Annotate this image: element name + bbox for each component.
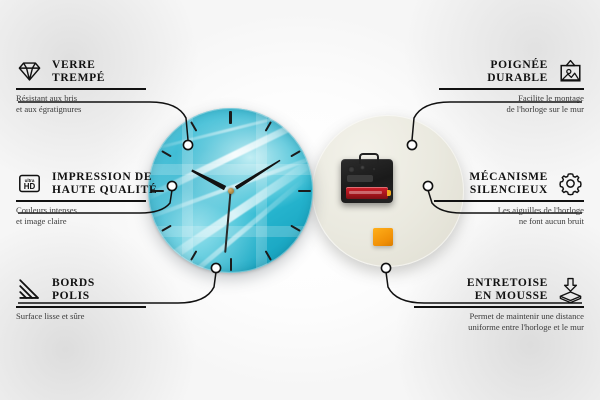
feature-description: Surface lisse et sûre (16, 311, 146, 321)
foam-spacer (373, 228, 393, 246)
polished-edge-icon (16, 276, 43, 303)
feature-title-line1: IMPRESSION DE (52, 171, 152, 183)
feature-title: IMPRESSION DE HAUTE QUALITÉ (52, 171, 157, 196)
feature-title: BORDS POLIS (52, 277, 95, 302)
svg-text:HD: HD (24, 182, 36, 191)
mechanism-detail (348, 166, 355, 173)
feature-title-line2: EN MOUSSE (475, 290, 548, 302)
feature-rule (414, 306, 584, 308)
feature-title: ENTRETOISE EN MOUSSE (467, 277, 548, 302)
feature-description: Résistant aux bris et aux égratignures (16, 93, 146, 114)
feature-title: VERRE TREMPÉ (52, 59, 105, 84)
feature-title-line1: ENTRETOISE (467, 277, 548, 289)
foam-spacer-icon (557, 276, 584, 303)
feature-desc-line1: Permet de maintenir une distance (469, 311, 584, 321)
feature-desc-line1: Surface lisse et sûre (16, 311, 85, 321)
mechanism-hanger-tab (359, 153, 379, 164)
feature-title-line2: POLIS (52, 290, 90, 302)
feature-rule (16, 200, 146, 202)
feature-desc-line2: de l'horloge sur le mur (507, 104, 584, 114)
feature-rule (434, 200, 584, 202)
feature-desc-line2: et aux égratignures (16, 104, 81, 114)
feature-title-line1: MÉCANISME (469, 171, 548, 183)
picture-hanger-icon (557, 58, 584, 85)
feature-title-line2: HAUTE QUALITÉ (52, 184, 157, 196)
feature-rule (439, 88, 584, 90)
feature-rule (16, 88, 146, 90)
feature-desc-line2: ne font aucun bruit (519, 216, 584, 226)
feature-title-line2: DURABLE (487, 72, 548, 84)
hour-marker (230, 111, 232, 191)
feature-desc-line1: Les aiguilles de l'horloge (498, 205, 584, 215)
feature-verre-trempe[interactable]: VERRE TREMPÉ Résistant aux bris et aux é… (16, 58, 146, 114)
quartz-mechanism (341, 159, 393, 203)
feature-impression-haute-qualite[interactable]: ultra HD IMPRESSION DE HAUTE QUALITÉ Cou… (16, 170, 146, 226)
mechanism-detail (360, 165, 365, 170)
feature-desc-line1: Couleurs intenses (16, 205, 77, 215)
hands-center-cap (228, 188, 234, 194)
feature-description: Facilite le montage de l'horloge sur le … (439, 93, 584, 114)
feature-title-line1: BORDS (52, 277, 95, 289)
feature-title-line1: POIGNÉE (490, 59, 548, 71)
battery (346, 187, 388, 199)
feature-description: Couleurs intenses et image claire (16, 205, 146, 226)
mechanism-detail (347, 175, 373, 182)
feature-title-line2: TREMPÉ (52, 72, 105, 84)
feature-title: MÉCANISME SILENCIEUX (469, 171, 548, 196)
diamond-icon (16, 58, 43, 85)
feature-poignee-durable[interactable]: POIGNÉE DURABLE Facilite le montage de l… (439, 58, 584, 114)
feature-rule (16, 306, 146, 308)
feature-desc-line2: uniforme entre l'horloge et le mur (468, 322, 584, 332)
feature-mecanisme-silencieux[interactable]: MÉCANISME SILENCIEUX Les aiguilles de l'… (434, 170, 584, 226)
battery-stripe (349, 191, 382, 194)
feature-desc-line1: Facilite le montage (518, 93, 584, 103)
feature-title-line2: SILENCIEUX (470, 184, 548, 196)
feature-desc-line2: et image claire (16, 216, 67, 226)
hour-marker (151, 190, 231, 192)
hour-marker (231, 190, 311, 192)
feature-title: POIGNÉE DURABLE (487, 59, 548, 84)
clock-front-view (148, 108, 313, 273)
feature-description: Permet de maintenir une distance uniform… (414, 311, 584, 332)
mechanism-detail (372, 167, 376, 171)
feature-title-line1: VERRE (52, 59, 96, 71)
feature-bords-polis[interactable]: BORDS POLIS Surface lisse et sûre (16, 276, 146, 322)
ultra-hd-icon: ultra HD (16, 170, 43, 197)
feature-entretoise-mousse[interactable]: ENTRETOISE EN MOUSSE Permet de maintenir… (414, 276, 584, 332)
feature-desc-line1: Résistant aux bris (16, 93, 77, 103)
feature-description: Les aiguilles de l'horloge ne font aucun… (434, 205, 584, 226)
infographic-canvas: VERRE TREMPÉ Résistant aux bris et aux é… (0, 0, 600, 400)
gear-icon (557, 170, 584, 197)
